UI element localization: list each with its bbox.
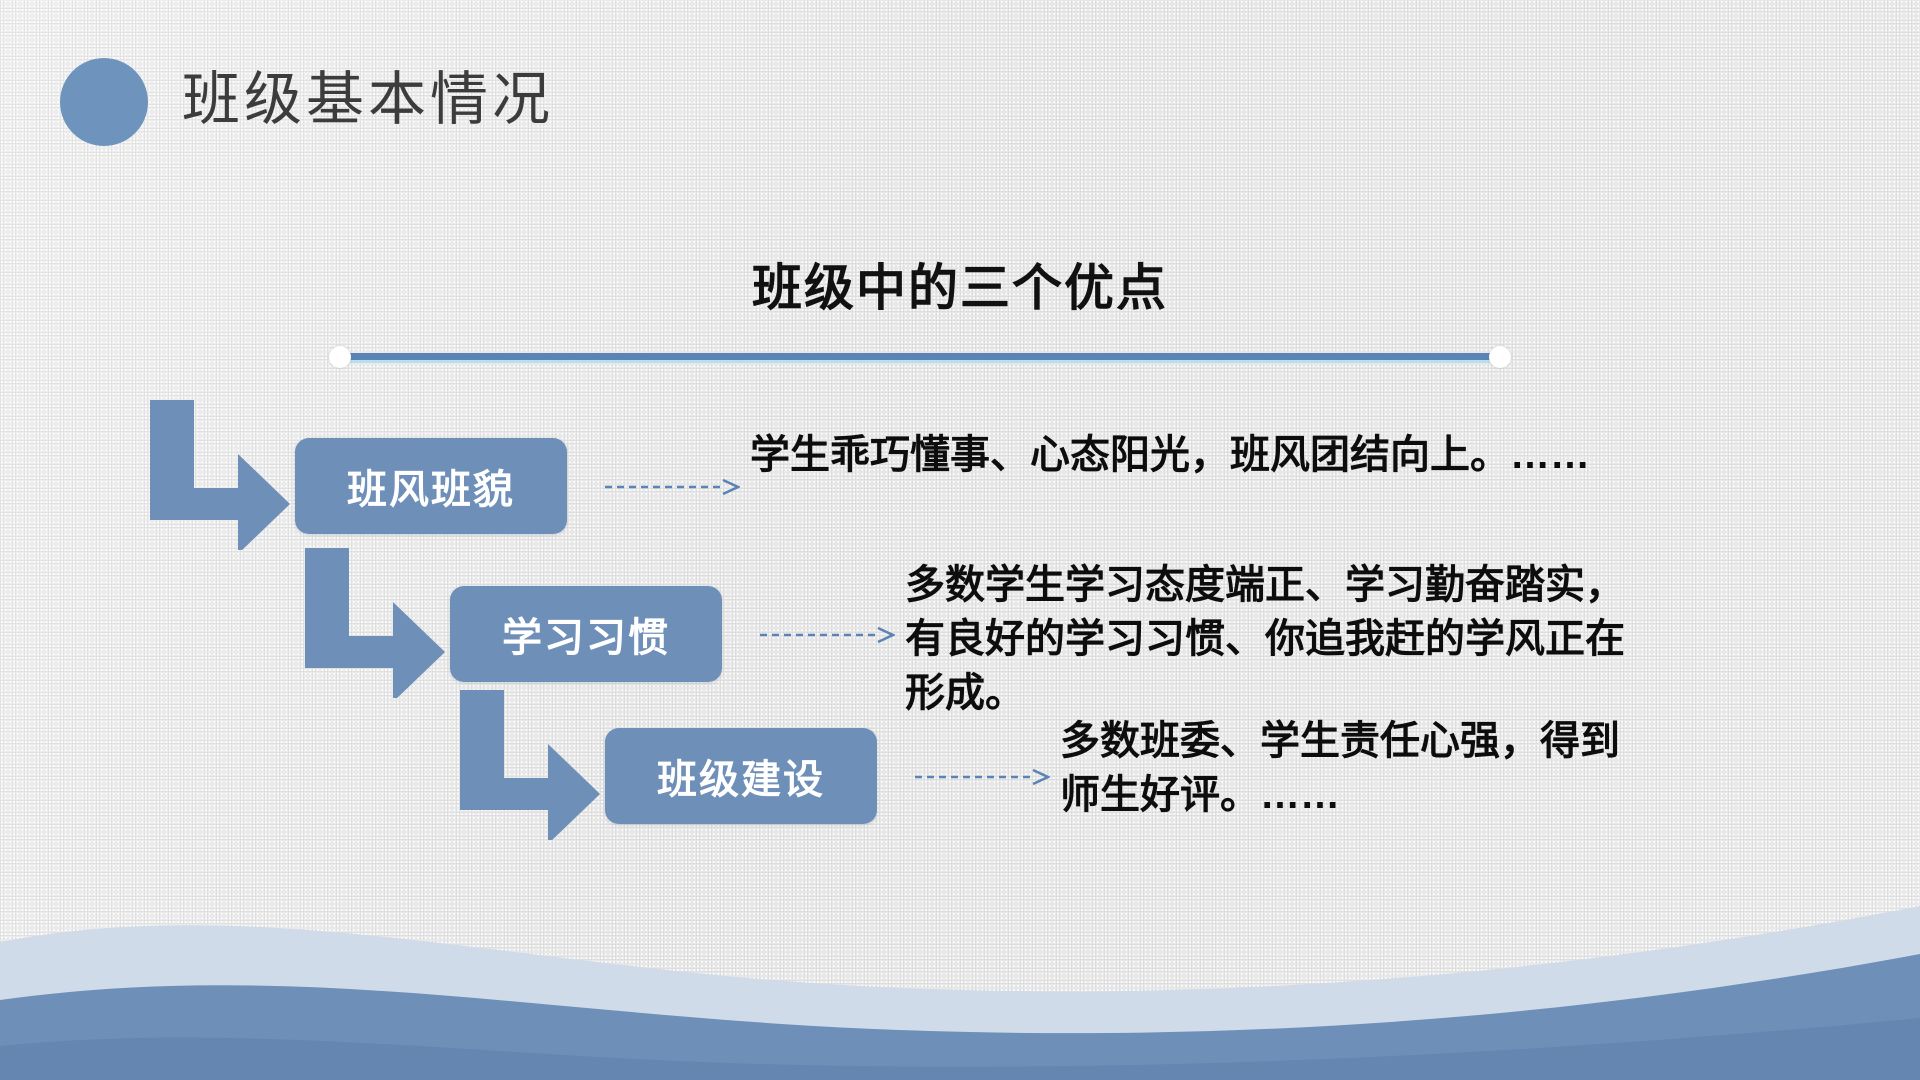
dashed-connector-arrow-1 (605, 476, 740, 498)
elbow-arrow-icon-3 (460, 690, 600, 840)
section-heading: 班级中的三个优点 (0, 248, 1920, 320)
slide-canvas: 班级基本情况 班级中的三个优点 班风班貌 学生乖巧懂事、心态阳光，班风团结向上。… (0, 0, 1920, 1080)
feature-label-chip-1[interactable]: 班风班貌 (295, 438, 567, 534)
feature-row-1: 班风班貌 学生乖巧懂事、心态阳光，班风团结向上。…… (150, 400, 1920, 550)
dashed-connector-arrow-3 (915, 766, 1050, 788)
header-bullet-circle-icon (60, 58, 148, 146)
feature-label-chip-2[interactable]: 学习习惯 (450, 586, 722, 682)
elbow-arrow-icon-1 (150, 400, 290, 550)
feature-description-1: 学生乖巧懂事、心态阳光，班风团结向上。…… (750, 428, 1920, 482)
divider-glow (340, 360, 1500, 363)
feature-label-text-1: 班风班貌 (347, 457, 515, 515)
divider-endpoint-left-icon (329, 346, 351, 368)
divider-line (340, 353, 1500, 360)
heading-divider (340, 353, 1500, 362)
footer-wave-decoration (0, 850, 1920, 1080)
page-title: 班级基本情况 (182, 52, 554, 148)
feature-label-text-3: 班级建设 (657, 747, 825, 805)
feature-label-chip-3[interactable]: 班级建设 (605, 728, 877, 824)
elbow-arrow-icon-2 (305, 548, 445, 698)
dashed-connector-arrow-2 (760, 624, 895, 646)
slide-header: 班级基本情况 (0, 0, 1920, 170)
divider-endpoint-right-icon (1489, 346, 1511, 368)
feature-description-3: 多数班委、学生责任心强，得到 师生好评。…… (1060, 714, 1920, 822)
feature-label-text-2: 学习习惯 (502, 605, 670, 663)
